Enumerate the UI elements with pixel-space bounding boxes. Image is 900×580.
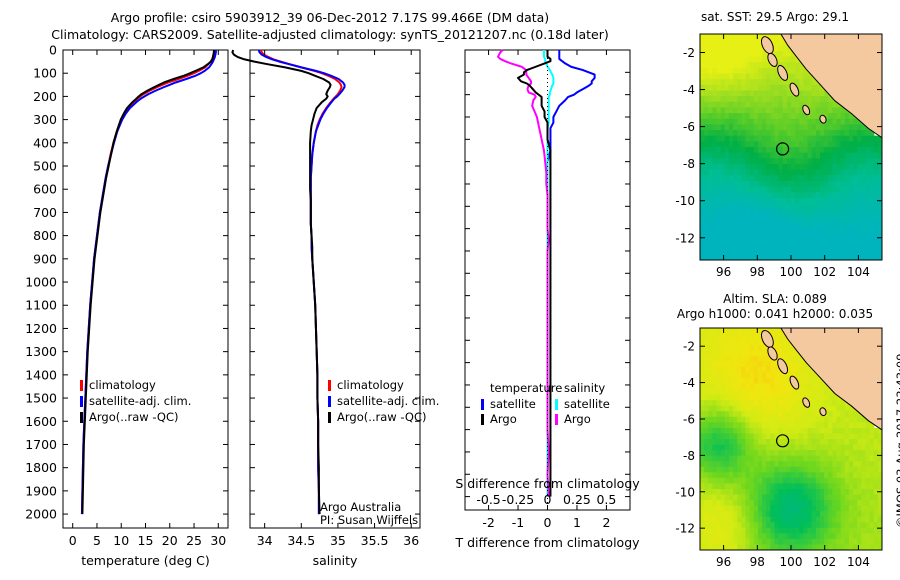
legend-label: satellite-adj. clim. [89,394,191,408]
svg-text:700: 700 [33,205,57,220]
legend-label: Argo [564,412,591,426]
x-tick-bottom: -1 [512,515,524,530]
x-tick-bottom: 0 [544,515,552,530]
map-y-tick: -12 [675,231,695,245]
x-tick: 30 [210,533,226,548]
copyright-label: ©IMOS 03-Aug-2017 23:43:09 [894,528,900,542]
x-tick: 0 [69,533,77,548]
x-tick: 25 [186,533,202,548]
sst-map-canvas: 9698100102104-2-4-6-8-10-12 [660,28,895,290]
difference-panel: -2-1012T difference from climatology-0.5… [455,44,660,580]
svg-text:1300: 1300 [25,344,57,359]
legend-label: climatology [89,378,156,392]
svg-text:1500: 1500 [25,391,57,406]
legend-swatch [80,412,83,423]
svg-text:1200: 1200 [25,321,57,336]
map-y-tick: -2 [683,46,695,60]
map-x-tick: 96 [716,555,731,569]
x-tick: 20 [162,533,178,548]
svg-text:1100: 1100 [25,298,57,313]
legend-swatch [80,396,83,407]
svg-text:900: 900 [33,251,57,266]
svg-text:300: 300 [33,112,57,127]
x-axis-label: temperature (deg C) [81,553,210,568]
svg-text:600: 600 [33,182,57,197]
map-x-tick: 100 [780,555,803,569]
legend-label: Argo(..raw -QC) [89,410,179,424]
x-tick-top: 0.5 [596,492,616,507]
svg-text:500: 500 [33,159,57,174]
svg-text:400: 400 [33,135,57,150]
map-y-tick: -10 [675,194,695,208]
credit-line-2: PI: Susan Wijffels [320,513,418,527]
svg-text:1900: 1900 [25,483,57,498]
salinity-panel: 3434.53535.536salinityclimatologysatelli… [240,44,455,580]
legend-swatch [80,380,83,391]
map-y-tick: -4 [683,83,695,97]
x-tick-bottom: -2 [482,515,494,530]
svg-text:1800: 1800 [25,460,57,475]
sla-map-title-line-2: Argo h1000: 0.041 h2000: 0.035 [655,307,895,321]
legend-label: satellite [564,397,610,411]
svg-text:100: 100 [33,66,57,81]
map-x-tick: 98 [750,555,765,569]
map-x-tick: 102 [813,265,836,279]
difference-plot: -2-1012T difference from climatology-0.5… [455,44,660,580]
x-tick: 10 [113,533,129,548]
map-x-tick: 104 [847,555,870,569]
map-x-tick: 104 [847,265,870,279]
map-y-tick: -6 [683,412,695,426]
svg-text:1600: 1600 [25,414,57,429]
map-y-tick: -10 [675,485,695,499]
legend-swatch [481,399,484,410]
map-y-tick: -8 [683,157,695,171]
legend-swatch [481,414,484,425]
svg-text:1000: 1000 [25,275,57,290]
x-tick: 36 [403,533,419,548]
x-tick-top: -0.25 [502,492,534,507]
x-axis-label-bottom: T difference from climatology [454,535,640,550]
legend-swatch [555,414,558,425]
x-tick-top: 0 [544,492,552,507]
header-line-1: Argo profile: csiro 5903912_39 06-Dec-20… [0,10,660,25]
temperature-panel: 0100200300400500600700800900100011001200… [0,44,240,580]
sla-map: 9698100102104-2-4-6-8-10-12 [660,322,895,580]
map-x-tick: 96 [716,265,731,279]
legend-label: Argo(..raw -QC) [337,410,427,424]
svg-text:1400: 1400 [25,367,57,382]
sla-map-title-line-1: Altim. SLA: 0.089 [660,292,890,306]
sla-map-canvas: 9698100102104-2-4-6-8-10-12 [660,322,895,580]
x-axis-label: salinity [313,553,358,568]
x-tick: 34 [257,533,273,548]
map-x-tick: 102 [813,555,836,569]
x-tick-bottom: 2 [602,515,610,530]
map-x-tick: 98 [750,265,765,279]
sst-map: 9698100102104-2-4-6-8-10-12 [660,28,895,290]
x-axis-label-top: S difference from climatology [455,476,640,491]
legend-label: satellite-adj. clim. [337,394,439,408]
x-tick-bottom: 1 [573,515,581,530]
plot-frame [63,50,228,528]
credit-line-1: Argo Australia [320,500,401,514]
map-y-tick: -6 [683,120,695,134]
x-tick: 34.5 [287,533,315,548]
legend-label: climatology [337,378,404,392]
x-tick: 35.5 [361,533,389,548]
x-tick: 35 [330,533,346,548]
temperature-plot: 0100200300400500600700800900100011001200… [0,44,240,580]
x-tick-top: -0.5 [476,492,500,507]
legend-swatch [555,399,558,410]
x-tick: 5 [93,533,101,548]
plot-frame [250,50,420,528]
map-y-tick: -8 [683,449,695,463]
legend-swatch [328,380,331,391]
svg-text:2000: 2000 [25,507,57,522]
x-tick-top: 0.25 [563,492,591,507]
sst-map-title: sat. SST: 29.5 Argo: 29.1 [660,10,890,24]
svg-text:200: 200 [33,89,57,104]
legend-swatch [328,396,331,407]
svg-text:1700: 1700 [25,437,57,452]
svg-text:0: 0 [49,43,57,58]
salinity-plot: 3434.53535.536salinityclimatologysatelli… [240,44,455,580]
header-line-2: Climatology: CARS2009. Satellite-adjuste… [0,27,660,42]
map-x-tick: 100 [780,265,803,279]
map-y-tick: -12 [675,522,695,536]
legend-swatch [328,412,331,423]
svg-text:800: 800 [33,228,57,243]
legend-label: satellite [490,397,536,411]
legend-label: Argo [490,412,517,426]
x-tick: 15 [138,533,154,548]
legend-column-title: temperature [490,381,562,395]
legend-column-title: salinity [564,381,605,395]
map-y-tick: -2 [683,340,695,354]
map-y-tick: -4 [683,376,695,390]
